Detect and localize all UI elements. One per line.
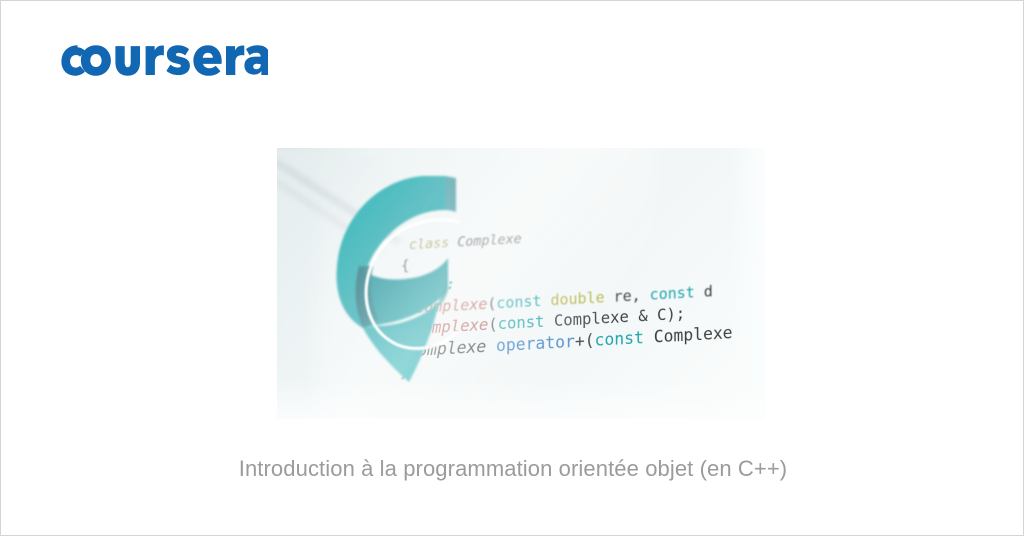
hero-image: class Complexe{public:Complexe(const dou… [277, 148, 765, 419]
code-token: const [595, 328, 654, 350]
coursera-logo[interactable]: coursera [58, 37, 268, 79]
code-token: +( [575, 331, 595, 351]
code-token: const [496, 291, 550, 312]
code-token: d [704, 282, 713, 301]
teal-ribbon-c-icon [317, 170, 497, 390]
slide-canvas: coursera class Complexe{public:Complexe(… [0, 0, 1024, 536]
code-token: const [498, 312, 554, 333]
slide-caption: Introduction à la programmation orientée… [1, 456, 1024, 482]
code-token: const [650, 283, 704, 304]
code-token: re, [614, 286, 650, 306]
code-token: double [550, 288, 613, 310]
